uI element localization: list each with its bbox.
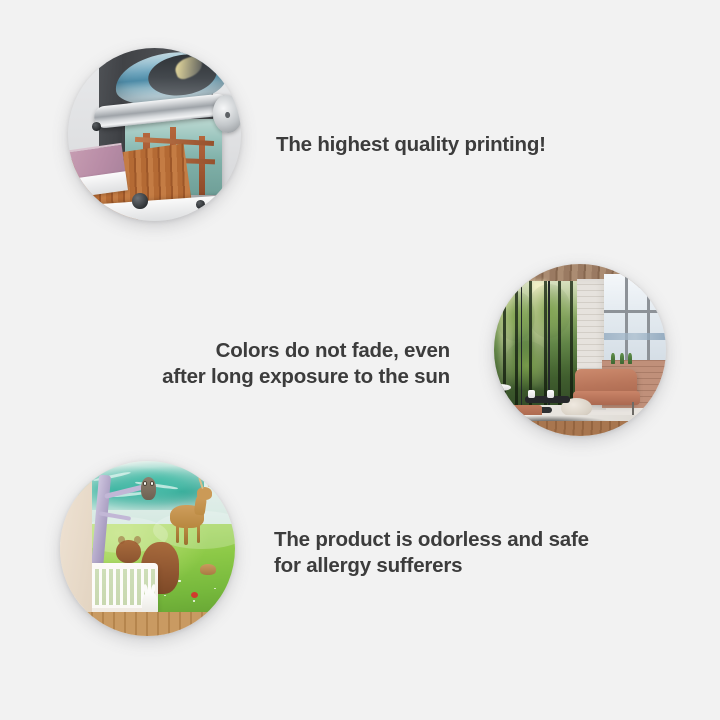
deer-leg [197, 524, 201, 543]
tree-trunk [570, 281, 573, 405]
potted-plant [611, 353, 615, 363]
tree-trunk [558, 281, 561, 405]
caption-odor: The product is odorless and safe for all… [274, 527, 589, 579]
loft-interior-scene [494, 264, 666, 436]
nursery-scene [60, 461, 235, 636]
loft-window [604, 274, 666, 363]
wood-floor [494, 421, 666, 436]
caption-printing: The highest quality printing! [276, 132, 546, 158]
meadow-flower [164, 595, 166, 596]
tree-trunk [515, 281, 518, 405]
mural-panel-divider [521, 281, 522, 405]
tree-trunk [544, 281, 547, 405]
bear-ear [134, 536, 141, 544]
feature-image-odor [60, 461, 235, 636]
meadow-flower [193, 600, 195, 601]
printing-press-scene [68, 48, 241, 221]
coffee-cup [528, 390, 535, 399]
deer-leg [176, 524, 180, 543]
window-mullion [604, 310, 666, 313]
potted-plant [620, 353, 624, 363]
window-mullion [625, 274, 628, 363]
owl-eye [143, 481, 147, 486]
sofa-leg [632, 402, 634, 416]
meadow-flower [178, 580, 180, 581]
owl-eye [150, 481, 154, 486]
city-skyline [604, 333, 666, 340]
meadow-flower [214, 588, 216, 589]
feature-image-fade [494, 264, 666, 436]
nursery-side-wall [60, 461, 92, 636]
window-mullion [647, 274, 650, 363]
tree-trunk [529, 281, 532, 405]
deer-head [197, 487, 213, 499]
hedgehog [200, 564, 216, 575]
caption-fade: Colors do not fade, even after long expo… [150, 338, 450, 390]
press-knob [132, 193, 148, 209]
wood-floor [60, 612, 235, 637]
press-small-knob [196, 200, 205, 209]
infographic-canvas: The highest quality printing! [0, 0, 720, 720]
feature-image-printing [68, 48, 241, 221]
press-small-knob [92, 122, 101, 131]
coffee-cup [547, 390, 554, 399]
mural-panel-divider [548, 281, 549, 405]
owl [141, 477, 157, 500]
deer-leg [184, 526, 188, 545]
potted-plant [628, 353, 632, 363]
bear-ear [118, 536, 125, 544]
